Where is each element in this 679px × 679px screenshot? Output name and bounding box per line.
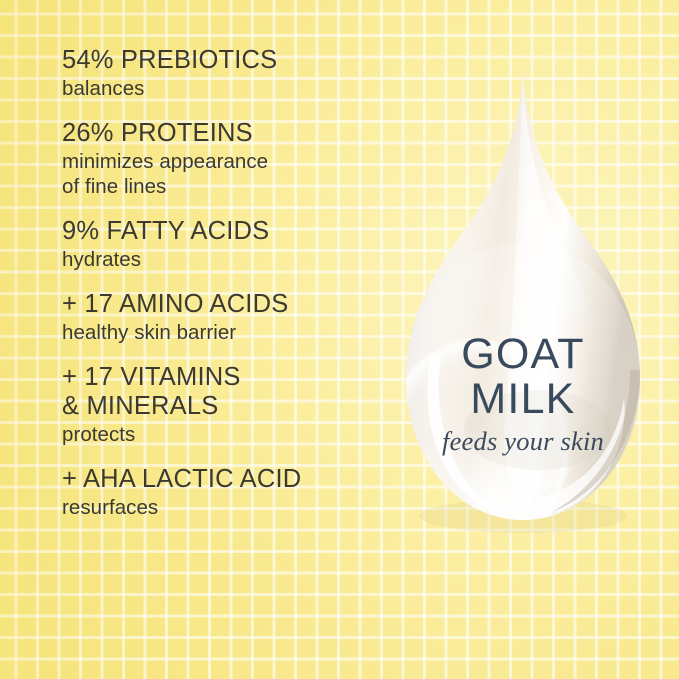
fact-subtext: minimizes appearance of fine lines: [62, 149, 382, 199]
fact-item-aha-lactic-acid: + AHA LACTIC ACID resurfaces: [62, 465, 382, 520]
fact-subtext: protects: [62, 422, 382, 447]
fact-item-vitamins-minerals: + 17 VITAMINS & MINERALS protects: [62, 363, 382, 447]
fact-subtext: resurfaces: [62, 495, 382, 520]
droplet-inner-shadow: [464, 390, 612, 470]
fact-heading: + 17 VITAMINS & MINERALS: [62, 363, 382, 421]
fact-heading: 26% PROTEINS: [62, 119, 382, 148]
milk-droplet-illustration: GOAT MILK feeds your skin: [388, 58, 658, 548]
fact-heading: + AHA LACTIC ACID: [62, 465, 382, 494]
fact-item-amino-acids: + 17 AMINO ACIDS healthy skin barrier: [62, 290, 382, 345]
fact-subtext: healthy skin barrier: [62, 320, 382, 345]
fact-item-proteins: 26% PROTEINS minimizes appearance of fin…: [62, 119, 382, 199]
fact-heading: 9% FATTY ACIDS: [62, 217, 382, 246]
fact-heading: 54% PREBIOTICS: [62, 46, 382, 75]
fact-subtext: balances: [62, 76, 382, 101]
fact-heading: + 17 AMINO ACIDS: [62, 290, 382, 319]
goat-milk-infographic: 54% PREBIOTICS balances 26% PROTEINS min…: [0, 0, 679, 679]
fact-item-fatty-acids: 9% FATTY ACIDS hydrates: [62, 217, 382, 272]
droplet-icon: [388, 58, 658, 548]
fact-item-prebiotics: 54% PREBIOTICS balances: [62, 46, 382, 101]
ingredient-facts-list: 54% PREBIOTICS balances 26% PROTEINS min…: [62, 46, 382, 520]
fact-subtext: hydrates: [62, 247, 382, 272]
